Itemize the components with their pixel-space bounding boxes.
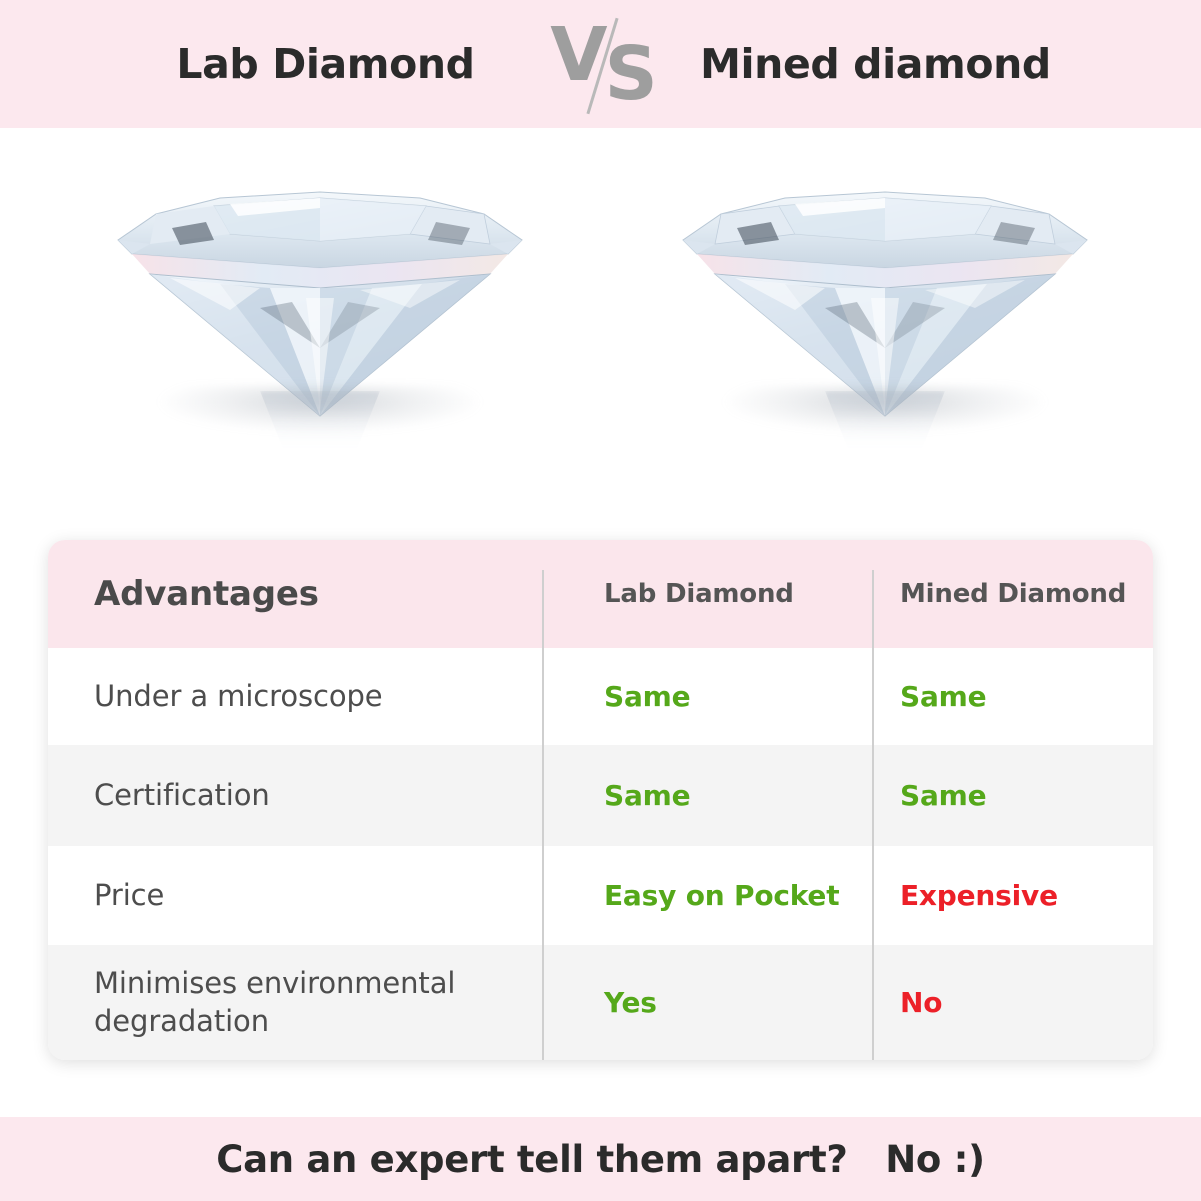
table-header-lab-label: Lab Diamond [604, 579, 794, 609]
table-header-lab-cell: Lab Diamond [542, 579, 872, 609]
row-mined-value: Same [900, 779, 986, 812]
column-divider-2 [872, 570, 874, 1060]
row-mined-value: No [900, 986, 942, 1019]
diamond-stage [0, 128, 1201, 538]
row-mined-cell: Expensive [872, 879, 1153, 912]
table-row: Under a microscope Same Same [48, 648, 1153, 745]
row-lab-cell: Yes [542, 986, 872, 1019]
table-row: Minimises environmental degradation Yes … [48, 945, 1153, 1060]
diamond-image-lab [110, 148, 530, 478]
table-header-mined-label: Mined Diamond [900, 579, 1126, 609]
infographic-page: Lab Diamond VS Mined diamond [0, 0, 1201, 1201]
row-lab-value: Same [604, 680, 690, 713]
table-row: Price Easy on Pocket Expensive [48, 846, 1153, 945]
diamond-graphic-left [110, 148, 530, 428]
row-feature-cell: Minimises environmental degradation [48, 965, 542, 1040]
vs-letter-s: S [604, 31, 652, 117]
row-feature-cell: Under a microscope [48, 678, 542, 716]
row-feature-label: Certification [94, 778, 270, 812]
footer-band: Can an expert tell them apart? No :) [0, 1117, 1201, 1201]
row-lab-value: Yes [604, 986, 657, 1019]
table-row: Certification Same Same [48, 745, 1153, 846]
diamond-graphic-right [675, 148, 1095, 428]
row-lab-cell: Same [542, 779, 872, 812]
table-header-feature-cell: Advantages [48, 574, 542, 614]
diamond-reflection-left [260, 391, 380, 457]
table-header-row: Advantages Lab Diamond Mined Diamond [48, 540, 1153, 648]
diamond-reflection-right [825, 391, 945, 457]
row-feature-label: Under a microscope [94, 679, 383, 713]
row-lab-cell: Same [542, 680, 872, 713]
row-mined-cell: Same [872, 680, 1153, 713]
row-mined-cell: Same [872, 779, 1153, 812]
comparison-table: Advantages Lab Diamond Mined Diamond Und… [48, 540, 1153, 1060]
table-header-feature-label: Advantages [94, 574, 319, 614]
column-divider-1 [542, 570, 544, 1060]
row-mined-value: Expensive [900, 879, 1058, 912]
row-feature-cell: Price [48, 877, 542, 915]
vs-badge: VS [541, 0, 661, 128]
row-lab-value: Same [604, 779, 690, 812]
row-lab-cell: Easy on Pocket [542, 879, 872, 912]
footer-question: Can an expert tell them apart? No :) [216, 1138, 985, 1181]
table-header-mined-cell: Mined Diamond [872, 579, 1153, 609]
header-title-lab: Lab Diamond [111, 40, 541, 88]
row-feature-label: Price [94, 878, 164, 912]
row-feature-label: Minimises environmental degradation [94, 966, 455, 1038]
row-lab-value: Easy on Pocket [604, 879, 839, 912]
row-feature-cell: Certification [48, 777, 542, 815]
row-mined-cell: No [872, 986, 1153, 1019]
header-band: Lab Diamond VS Mined diamond [0, 0, 1201, 128]
row-mined-value: Same [900, 680, 986, 713]
diamond-image-mined [675, 148, 1095, 478]
header-title-mined: Mined diamond [661, 40, 1091, 88]
